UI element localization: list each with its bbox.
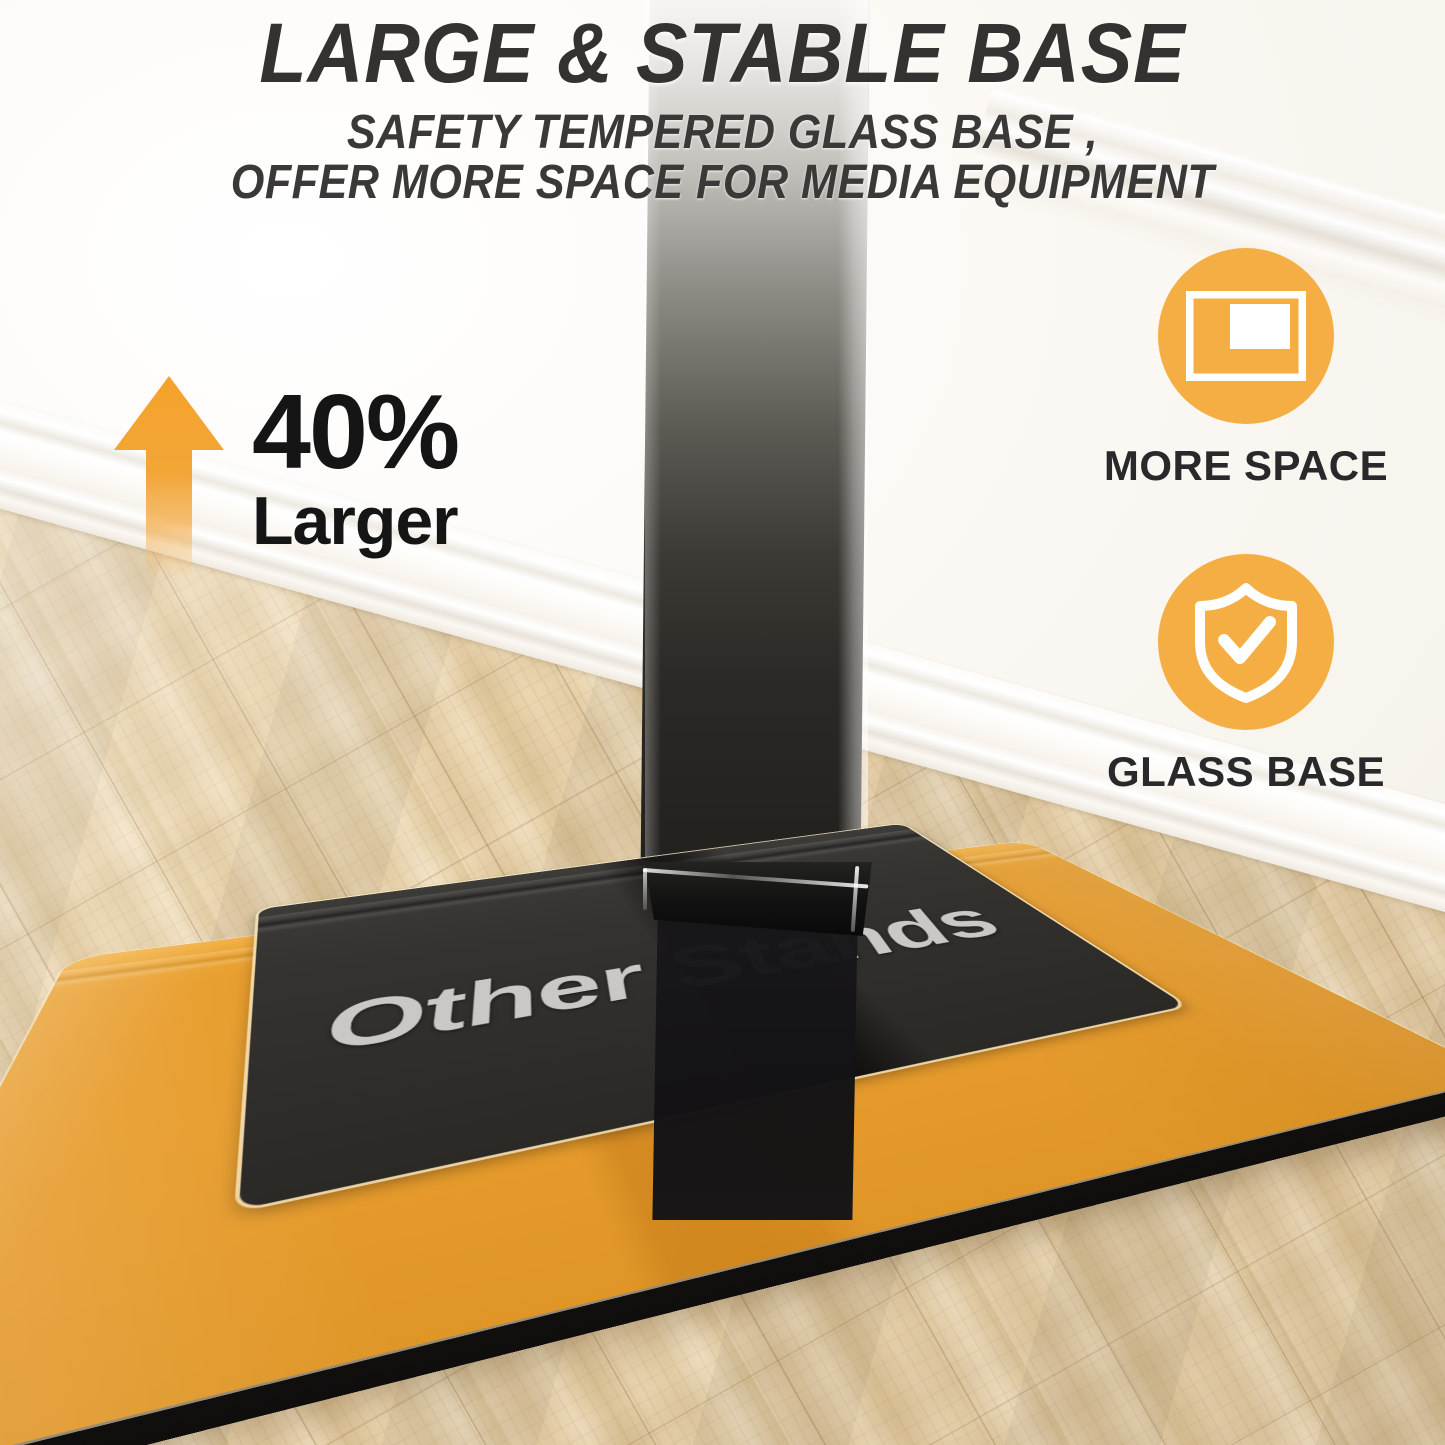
shield-check-icon (1190, 580, 1302, 704)
pole-lower-segment (652, 920, 857, 1220)
arrow-up-icon (110, 372, 228, 582)
larger-comparison-badge: 40% Larger (110, 372, 458, 582)
feature-glass-base: GLASS BASE (1081, 554, 1411, 796)
larger-word: Larger (252, 487, 458, 555)
feature-more-space: MORE SPACE (1081, 248, 1411, 490)
larger-text-block: 40% Larger (252, 385, 458, 554)
feature-more-space-label: MORE SPACE (1081, 442, 1411, 490)
subtitle-line-1: SAFETY TEMPERED GLASS BASE , (72, 108, 1373, 158)
feature-badge-list: MORE SPACE GLASS BASE (1081, 248, 1411, 796)
more-space-icon (1186, 291, 1306, 381)
larger-percent: 40% (252, 385, 458, 480)
product-feature-image: Other Stands LARGE & STABLE BASE SAFETY … (0, 0, 1445, 1445)
subtitle-line-2: OFFER MORE SPACE FOR MEDIA EQUIPMENT (72, 158, 1373, 208)
page-title: LARGE & STABLE BASE (58, 14, 1387, 93)
pole-bracket-left-highlight (643, 868, 647, 910)
feature-glass-base-label: GLASS BASE (1081, 748, 1411, 796)
more-space-icon-circle (1158, 248, 1334, 424)
subtitle: SAFETY TEMPERED GLASS BASE , OFFER MORE … (72, 108, 1373, 209)
shield-check-icon-circle (1158, 554, 1334, 730)
